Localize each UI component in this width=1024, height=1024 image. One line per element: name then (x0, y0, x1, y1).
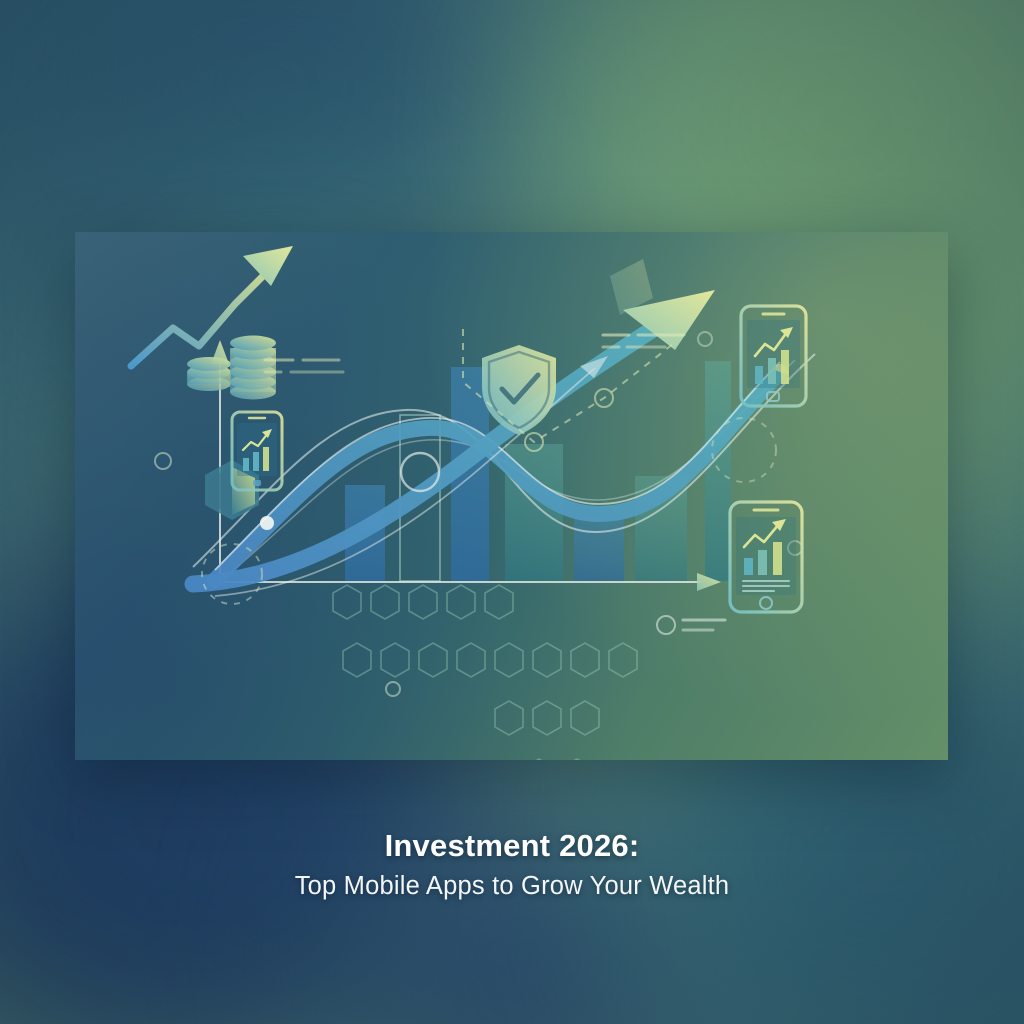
security-shield-icon (482, 345, 556, 435)
poster-subtitle: Top Mobile Apps to Grow Your Wealth (0, 872, 1024, 901)
coin-stack-short (187, 357, 231, 391)
coin-stack-tall (230, 336, 276, 400)
hero-illustration-card (75, 232, 948, 760)
phone-bottom-right-icon (730, 502, 802, 612)
honeycomb-grid (333, 585, 637, 760)
circle-outline-small-1 (386, 682, 400, 696)
text-lines-footer (683, 620, 725, 630)
poster-title: Investment 2026: (0, 828, 1024, 865)
phone-top-right-icon (741, 306, 806, 406)
circle-outline-small-3 (698, 332, 712, 346)
bar-7 (705, 361, 731, 581)
dot-filled (260, 516, 274, 530)
circle-outline-small-2 (155, 453, 171, 469)
infographic-illustration (75, 232, 948, 760)
circle-outline-footer (657, 616, 675, 634)
bar-5 (574, 517, 624, 581)
text-lines-left (265, 360, 343, 372)
poster-caption: Investment 2026: Top Mobile Apps to Grow… (0, 828, 1024, 901)
